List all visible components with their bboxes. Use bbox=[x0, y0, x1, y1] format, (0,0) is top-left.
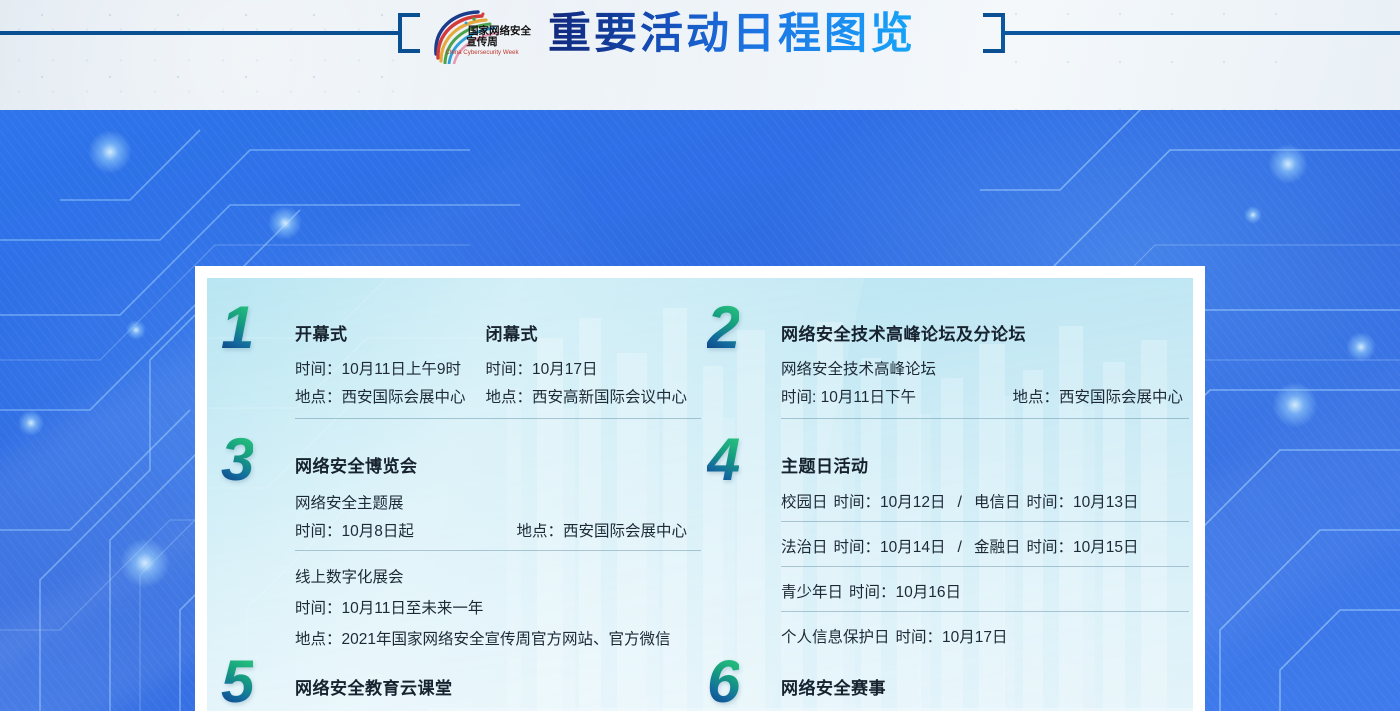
item-4-day-1a-name: 校园日 bbox=[781, 490, 828, 512]
node-glow-9 bbox=[1244, 206, 1262, 224]
item-1-closing-time: 时间：10月17日 bbox=[485, 357, 687, 379]
item-4-day-3a-name: 青少年日 bbox=[781, 580, 843, 602]
item-1-divider bbox=[295, 418, 701, 419]
item-2-time: 时间: 10月11日下午 bbox=[781, 385, 916, 407]
node-glow-2 bbox=[268, 206, 302, 240]
item-5-title: 网络安全教育云课堂 bbox=[295, 674, 687, 699]
item-1-title-closing: 闭幕式 bbox=[485, 320, 687, 345]
item-4-day-2a-name: 法治日 bbox=[781, 535, 828, 557]
node-glow-1 bbox=[88, 130, 132, 174]
item-2-title: 网络安全技术高峰论坛及分论坛 bbox=[781, 320, 1183, 345]
item-4-day-2a-time: 时间：10月14日 bbox=[828, 535, 946, 557]
item-4-day-row-1: 校园日 时间：10月12日 / 电信日 时间：10月13日 bbox=[781, 490, 1183, 512]
schedule-item-5: 5 网络安全教育云课堂 时间: 10月5日 地点：2021年国家网络安全宣传周官… bbox=[207, 642, 697, 711]
schedule-item-4: 4 主题日活动 校园日 时间：10月12日 / 电信日 时间：10月13日 法 bbox=[697, 422, 1193, 642]
item-3-divider-1 bbox=[295, 550, 701, 551]
header-dot-texture-left bbox=[0, 0, 420, 110]
schedule-grid: 1 开幕式 时间：10月11日上午9时 地点：西安国际会展中心 闭幕式 时间：1… bbox=[207, 278, 1193, 711]
item-1-opening-time: 时间：10月11日上午9时 bbox=[295, 357, 485, 379]
item-2-divider bbox=[781, 418, 1189, 419]
schedule-item-1: 1 开幕式 时间：10月11日上午9时 地点：西安国际会展中心 闭幕式 时间：1… bbox=[207, 282, 697, 422]
bracket-left-decoration bbox=[398, 13, 420, 53]
item-4-divider-1 bbox=[781, 521, 1189, 522]
item-4-day-2b-time: 时间：10月15日 bbox=[1020, 535, 1138, 557]
header-dot-texture-right bbox=[980, 0, 1280, 110]
item-number-6: 6 bbox=[707, 652, 739, 711]
item-4-day-2b-name: 金融日 bbox=[974, 535, 1021, 557]
item-4-title: 主题日活动 bbox=[781, 452, 1183, 477]
node-glow-3 bbox=[18, 410, 44, 436]
node-glow-5 bbox=[120, 538, 170, 588]
item-4-day-1-separator: / bbox=[946, 494, 974, 512]
schedule-panel: 1 开幕式 时间：10月11日上午9时 地点：西安国际会展中心 闭幕式 时间：1… bbox=[207, 278, 1193, 711]
schedule-item-3: 3 网络安全博览会 网络安全主题展 时间：10月8日起 地点：西安国际会展中心 … bbox=[207, 422, 697, 642]
item-1-closing-place: 地点：西安高新国际会议中心 bbox=[485, 385, 687, 407]
node-glow-8 bbox=[1272, 382, 1318, 428]
item-number-2: 2 bbox=[707, 298, 739, 358]
item-4-day-row-3: 青少年日 时间：10月16日 bbox=[781, 580, 1183, 602]
item-number-3: 3 bbox=[221, 430, 253, 490]
logo-line2: 宣传周 bbox=[466, 35, 498, 48]
item-2-place: 地点：西安国际会展中心 bbox=[1012, 385, 1183, 407]
header-rule-right bbox=[1003, 31, 1400, 35]
item-number-4: 4 bbox=[707, 430, 739, 490]
item-4-divider-2 bbox=[781, 566, 1189, 567]
item-number-1: 1 bbox=[221, 298, 253, 358]
item-2-subtitle: 网络安全技术高峰论坛 bbox=[781, 357, 1183, 379]
item-3-block-2-time: 时间：10月11日至未来一年 bbox=[295, 596, 687, 618]
node-glow-4 bbox=[126, 320, 146, 340]
item-4-day-2-separator: / bbox=[946, 539, 974, 557]
schedule-item-6: 6 网络安全赛事 全国青少年网络安全竞赛(决赛) 时间: 10月16日—10月1… bbox=[697, 642, 1193, 711]
item-4-day-3a-time: 时间：10月16日 bbox=[843, 580, 961, 602]
item-3-block-1-place: 地点：西安国际会展中心 bbox=[516, 519, 687, 541]
header-rule-left bbox=[0, 31, 400, 35]
item-3-block-1-time: 时间：10月8日起 bbox=[295, 519, 414, 541]
item-4-divider-3 bbox=[781, 611, 1189, 612]
logo-line3: China Cybersecurity Week bbox=[445, 49, 519, 56]
tech-background: 1 开幕式 时间：10月11日上午9时 地点：西安国际会展中心 闭幕式 时间：1… bbox=[0, 110, 1400, 711]
page-title: 重要活动日程图览 bbox=[548, 8, 916, 60]
item-4-day-1b-name: 电信日 bbox=[974, 490, 1021, 512]
item-4-day-1b-time: 时间：10月13日 bbox=[1020, 490, 1138, 512]
item-3-block-1-name: 网络安全主题展 bbox=[295, 491, 687, 513]
cybersecurity-week-logo: 国家网络安全 宣传周 China Cybersecurity Week bbox=[428, 6, 536, 64]
item-1-opening-place: 地点：西安国际会展中心 bbox=[295, 385, 485, 407]
item-3-block-2-name: 线上数字化展会 bbox=[295, 565, 687, 587]
bracket-right-decoration bbox=[983, 13, 1005, 53]
schedule-card-frame: 1 开幕式 时间：10月11日上午9时 地点：西安国际会展中心 闭幕式 时间：1… bbox=[195, 266, 1205, 711]
page-header: 国家网络安全 宣传周 China Cybersecurity Week 重要活动… bbox=[0, 0, 1400, 110]
schedule-item-2: 2 网络安全技术高峰论坛及分论坛 网络安全技术高峰论坛 时间: 10月11日下午… bbox=[697, 282, 1193, 422]
node-glow-6 bbox=[1268, 144, 1308, 184]
item-1-title-opening: 开幕式 bbox=[295, 320, 485, 345]
node-glow-7 bbox=[1346, 332, 1376, 362]
item-6-title: 网络安全赛事 bbox=[781, 674, 1183, 699]
item-number-5: 5 bbox=[221, 652, 253, 711]
item-4-day-row-2: 法治日 时间：10月14日 / 金融日 时间：10月15日 bbox=[781, 535, 1183, 557]
item-3-title: 网络安全博览会 bbox=[295, 452, 687, 477]
item-4-day-1a-time: 时间：10月12日 bbox=[828, 490, 946, 512]
